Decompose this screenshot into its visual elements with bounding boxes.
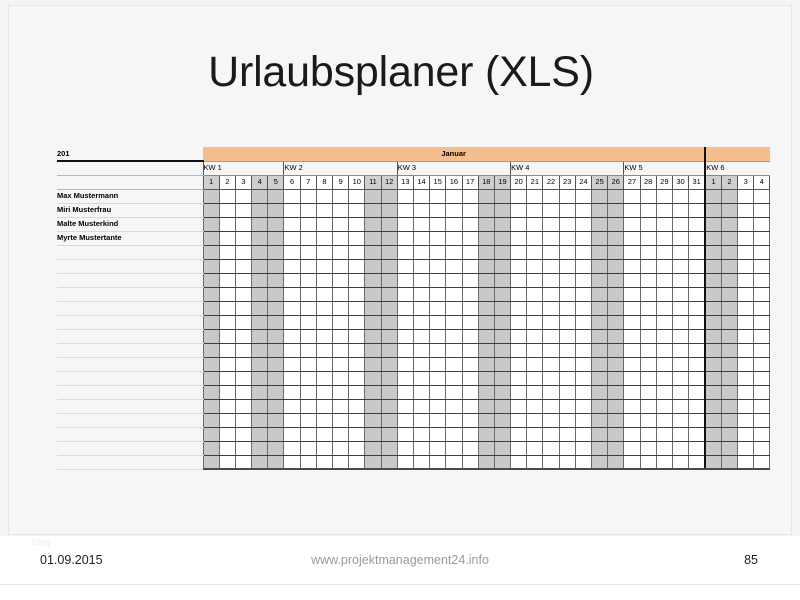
planner-day-cell[interactable] [575, 371, 591, 385]
planner-day-cell[interactable] [203, 245, 219, 259]
planner-day-cell[interactable] [672, 231, 688, 245]
planner-day-cell[interactable] [754, 441, 770, 455]
planner-day-cell[interactable] [656, 371, 672, 385]
planner-day-cell[interactable] [559, 357, 575, 371]
planner-day-cell[interactable] [689, 231, 706, 245]
planner-day-cell[interactable] [349, 273, 365, 287]
planner-day-cell[interactable] [349, 287, 365, 301]
planner-day-cell[interactable] [754, 385, 770, 399]
planner-day-cell[interactable] [381, 287, 397, 301]
planner-day-cell[interactable] [316, 217, 332, 231]
planner-day-cell[interactable] [592, 259, 608, 273]
empty-name-cell[interactable] [57, 455, 203, 469]
planner-day-cell[interactable] [219, 301, 235, 315]
planner-day-cell[interactable] [349, 217, 365, 231]
empty-name-cell[interactable] [57, 371, 203, 385]
planner-day-cell[interactable] [592, 301, 608, 315]
planner-day-cell[interactable] [656, 259, 672, 273]
planner-day-cell[interactable] [300, 259, 316, 273]
day-header-17[interactable]: 17 [462, 175, 478, 189]
planner-day-cell[interactable] [640, 329, 656, 343]
planner-day-cell[interactable] [333, 413, 349, 427]
planner-day-cell[interactable] [721, 385, 737, 399]
planner-day-cell[interactable] [219, 371, 235, 385]
planner-day-cell[interactable] [592, 287, 608, 301]
planner-day-cell[interactable] [640, 245, 656, 259]
empty-name-cell[interactable] [57, 315, 203, 329]
planner-day-cell[interactable] [559, 231, 575, 245]
planner-day-cell[interactable] [754, 203, 770, 217]
planner-day-cell[interactable] [462, 301, 478, 315]
planner-day-cell[interactable] [640, 273, 656, 287]
planner-day-cell[interactable] [381, 245, 397, 259]
planner-day-cell[interactable] [705, 301, 721, 315]
planner-day-cell[interactable] [446, 385, 462, 399]
planner-day-cell[interactable] [738, 399, 754, 413]
planner-day-cell[interactable] [397, 427, 413, 441]
planner-day-cell[interactable] [235, 245, 251, 259]
planner-day-cell[interactable] [413, 371, 429, 385]
planner-day-cell[interactable] [738, 301, 754, 315]
planner-day-cell[interactable] [203, 413, 219, 427]
day-header-30[interactable]: 30 [672, 175, 688, 189]
planner-day-cell[interactable] [689, 189, 706, 203]
planner-day-cell[interactable] [349, 301, 365, 315]
planner-day-cell[interactable] [349, 203, 365, 217]
planner-day-cell[interactable] [252, 385, 268, 399]
planner-day-cell[interactable] [559, 287, 575, 301]
planner-day-cell[interactable] [381, 399, 397, 413]
planner-day-cell[interactable] [705, 287, 721, 301]
planner-day-cell[interactable] [413, 217, 429, 231]
planner-day-cell[interactable] [689, 371, 706, 385]
planner-day-cell[interactable] [446, 329, 462, 343]
person-name-4[interactable]: Myrte Mustertante [57, 231, 203, 245]
planner-day-cell[interactable] [349, 315, 365, 329]
planner-day-cell[interactable] [656, 189, 672, 203]
planner-day-cell[interactable] [511, 343, 527, 357]
planner-day-cell[interactable] [672, 259, 688, 273]
planner-day-cell[interactable] [252, 343, 268, 357]
planner-day-cell[interactable] [511, 301, 527, 315]
planner-day-cell[interactable] [268, 245, 284, 259]
table-row[interactable] [57, 399, 770, 413]
day-header-3[interactable]: 3 [235, 175, 251, 189]
planner-day-cell[interactable] [316, 357, 332, 371]
planner-day-cell[interactable] [640, 343, 656, 357]
planner-day-cell[interactable] [527, 343, 543, 357]
planner-day-cell[interactable] [527, 301, 543, 315]
planner-day-cell[interactable] [462, 441, 478, 455]
planner-day-cell[interactable] [397, 189, 413, 203]
planner-day-cell[interactable] [754, 399, 770, 413]
planner-day-cell[interactable] [478, 259, 494, 273]
day-header-33[interactable]: 2 [721, 175, 737, 189]
planner-day-cell[interactable] [446, 357, 462, 371]
planner-day-cell[interactable] [430, 385, 446, 399]
planner-day-cell[interactable] [430, 315, 446, 329]
planner-day-cell[interactable] [559, 259, 575, 273]
planner-day-cell[interactable] [624, 329, 640, 343]
planner-day-cell[interactable] [478, 455, 494, 469]
planner-day-cell[interactable] [608, 413, 624, 427]
planner-day-cell[interactable] [446, 259, 462, 273]
planner-day-cell[interactable] [413, 399, 429, 413]
planner-day-cell[interactable] [252, 455, 268, 469]
planner-day-cell[interactable] [494, 203, 510, 217]
planner-day-cell[interactable] [738, 371, 754, 385]
planner-day-cell[interactable] [705, 399, 721, 413]
planner-day-cell[interactable] [527, 427, 543, 441]
planner-day-cell[interactable] [656, 357, 672, 371]
planner-day-cell[interactable] [333, 287, 349, 301]
planner-day-cell[interactable] [511, 427, 527, 441]
day-header-18[interactable]: 18 [478, 175, 494, 189]
empty-name-cell[interactable] [57, 287, 203, 301]
planner-day-cell[interactable] [494, 273, 510, 287]
planner-grid[interactable]: 201JanuarKW 1KW 2KW 3KW 4KW 5KW 61234567… [57, 147, 770, 470]
planner-day-cell[interactable] [592, 315, 608, 329]
planner-day-cell[interactable] [219, 315, 235, 329]
planner-day-cell[interactable] [316, 371, 332, 385]
planner-day-cell[interactable] [203, 329, 219, 343]
planner-day-cell[interactable] [511, 371, 527, 385]
planner-day-cell[interactable] [592, 231, 608, 245]
planner-day-cell[interactable] [543, 203, 559, 217]
planner-day-cell[interactable] [624, 217, 640, 231]
planner-day-cell[interactable] [268, 189, 284, 203]
planner-day-cell[interactable] [608, 399, 624, 413]
planner-day-cell[interactable] [640, 371, 656, 385]
planner-day-cell[interactable] [252, 189, 268, 203]
planner-day-cell[interactable] [478, 399, 494, 413]
planner-day-cell[interactable] [397, 217, 413, 231]
planner-day-cell[interactable] [381, 231, 397, 245]
planner-day-cell[interactable] [543, 245, 559, 259]
planner-day-cell[interactable] [592, 427, 608, 441]
planner-day-cell[interactable] [494, 399, 510, 413]
planner-day-cell[interactable] [235, 315, 251, 329]
planner-day-cell[interactable] [268, 301, 284, 315]
planner-day-cell[interactable] [608, 217, 624, 231]
planner-day-cell[interactable] [430, 371, 446, 385]
planner-day-cell[interactable] [672, 287, 688, 301]
planner-day-cell[interactable] [365, 399, 381, 413]
planner-day-cell[interactable] [738, 427, 754, 441]
planner-day-cell[interactable] [608, 427, 624, 441]
planner-day-cell[interactable] [656, 343, 672, 357]
planner-day-cell[interactable] [413, 301, 429, 315]
planner-day-cell[interactable] [640, 385, 656, 399]
planner-day-cell[interactable] [268, 287, 284, 301]
planner-day-cell[interactable] [672, 371, 688, 385]
table-row[interactable] [57, 245, 770, 259]
planner-day-cell[interactable] [235, 301, 251, 315]
planner-day-cell[interactable] [478, 245, 494, 259]
planner-day-cell[interactable] [494, 357, 510, 371]
planner-day-cell[interactable] [527, 287, 543, 301]
planner-day-cell[interactable] [511, 287, 527, 301]
planner-day-cell[interactable] [219, 273, 235, 287]
planner-day-cell[interactable] [349, 231, 365, 245]
planner-day-cell[interactable] [235, 455, 251, 469]
day-header-23[interactable]: 23 [559, 175, 575, 189]
planner-day-cell[interactable] [592, 455, 608, 469]
planner-day-cell[interactable] [624, 441, 640, 455]
planner-day-cell[interactable] [333, 357, 349, 371]
planner-day-cell[interactable] [365, 231, 381, 245]
planner-day-cell[interactable] [559, 329, 575, 343]
planner-day-cell[interactable] [284, 399, 300, 413]
planner-day-cell[interactable] [268, 455, 284, 469]
planner-day-cell[interactable] [575, 315, 591, 329]
planner-day-cell[interactable] [575, 245, 591, 259]
planner-day-cell[interactable] [430, 287, 446, 301]
planner-day-cell[interactable] [284, 441, 300, 455]
planner-day-cell[interactable] [543, 315, 559, 329]
table-row[interactable] [57, 259, 770, 273]
planner-day-cell[interactable] [721, 427, 737, 441]
planner-day-cell[interactable] [672, 315, 688, 329]
planner-day-cell[interactable] [754, 217, 770, 231]
day-header-8[interactable]: 8 [316, 175, 332, 189]
planner-day-cell[interactable] [413, 385, 429, 399]
planner-day-cell[interactable] [592, 385, 608, 399]
day-header-6[interactable]: 6 [284, 175, 300, 189]
day-header-11[interactable]: 11 [365, 175, 381, 189]
planner-day-cell[interactable] [284, 427, 300, 441]
planner-day-cell[interactable] [333, 273, 349, 287]
planner-day-cell[interactable] [494, 259, 510, 273]
planner-day-cell[interactable] [656, 385, 672, 399]
planner-day-cell[interactable] [543, 385, 559, 399]
planner-day-cell[interactable] [754, 329, 770, 343]
planner-day-cell[interactable] [705, 217, 721, 231]
planner-day-cell[interactable] [235, 259, 251, 273]
planner-day-cell[interactable] [511, 455, 527, 469]
planner-day-cell[interactable] [527, 217, 543, 231]
planner-day-cell[interactable] [608, 189, 624, 203]
planner-day-cell[interactable] [203, 259, 219, 273]
planner-day-cell[interactable] [397, 259, 413, 273]
planner-day-cell[interactable] [689, 273, 706, 287]
table-row[interactable] [57, 301, 770, 315]
day-header-7[interactable]: 7 [300, 175, 316, 189]
planner-day-cell[interactable] [446, 427, 462, 441]
day-header-25[interactable]: 25 [592, 175, 608, 189]
planner-day-cell[interactable] [478, 315, 494, 329]
planner-day-cell[interactable] [754, 189, 770, 203]
planner-day-cell[interactable] [381, 343, 397, 357]
planner-day-cell[interactable] [592, 203, 608, 217]
planner-day-cell[interactable] [608, 245, 624, 259]
planner-day-cell[interactable] [689, 301, 706, 315]
planner-day-cell[interactable] [219, 427, 235, 441]
planner-day-cell[interactable] [705, 455, 721, 469]
planner-day-cell[interactable] [721, 357, 737, 371]
planner-day-cell[interactable] [478, 343, 494, 357]
planner-day-cell[interactable] [592, 357, 608, 371]
planner-day-cell[interactable] [721, 455, 737, 469]
planner-day-cell[interactable] [511, 357, 527, 371]
planner-day-cell[interactable] [316, 203, 332, 217]
planner-day-cell[interactable] [284, 231, 300, 245]
planner-day-cell[interactable] [624, 343, 640, 357]
planner-day-cell[interactable] [721, 301, 737, 315]
planner-day-cell[interactable] [430, 455, 446, 469]
planner-day-cell[interactable] [640, 455, 656, 469]
planner-day-cell[interactable] [527, 357, 543, 371]
planner-day-cell[interactable] [494, 301, 510, 315]
planner-day-cell[interactable] [413, 203, 429, 217]
planner-day-cell[interactable] [738, 273, 754, 287]
planner-day-cell[interactable] [381, 371, 397, 385]
planner-day-cell[interactable] [478, 287, 494, 301]
planner-day-cell[interactable] [446, 455, 462, 469]
planner-day-cell[interactable] [446, 371, 462, 385]
planner-day-cell[interactable] [235, 357, 251, 371]
planner-day-cell[interactable] [559, 441, 575, 455]
planner-day-cell[interactable] [494, 441, 510, 455]
planner-day-cell[interactable] [511, 441, 527, 455]
planner-day-cell[interactable] [511, 399, 527, 413]
planner-day-cell[interactable] [721, 413, 737, 427]
planner-day-cell[interactable] [575, 357, 591, 371]
planner-day-cell[interactable] [413, 427, 429, 441]
planner-day-cell[interactable] [381, 189, 397, 203]
planner-day-cell[interactable] [738, 385, 754, 399]
planner-day-cell[interactable] [235, 441, 251, 455]
planner-day-cell[interactable] [316, 329, 332, 343]
planner-day-cell[interactable] [268, 427, 284, 441]
planner-day-cell[interactable] [252, 203, 268, 217]
planner-day-cell[interactable] [608, 231, 624, 245]
planner-day-cell[interactable] [721, 315, 737, 329]
table-row[interactable] [57, 273, 770, 287]
planner-day-cell[interactable] [316, 301, 332, 315]
planner-day-cell[interactable] [511, 273, 527, 287]
planner-day-cell[interactable] [203, 287, 219, 301]
planner-day-cell[interactable] [689, 399, 706, 413]
planner-day-cell[interactable] [235, 413, 251, 427]
planner-day-cell[interactable] [689, 287, 706, 301]
planner-day-cell[interactable] [754, 427, 770, 441]
planner-day-cell[interactable] [252, 245, 268, 259]
planner-day-cell[interactable] [705, 273, 721, 287]
planner-day-cell[interactable] [333, 189, 349, 203]
planner-day-cell[interactable] [300, 287, 316, 301]
planner-day-cell[interactable] [349, 385, 365, 399]
planner-day-cell[interactable] [397, 245, 413, 259]
planner-day-cell[interactable] [527, 455, 543, 469]
planner-day-cell[interactable] [608, 385, 624, 399]
planner-day-cell[interactable] [430, 217, 446, 231]
planner-day-cell[interactable] [235, 203, 251, 217]
planner-day-cell[interactable] [721, 441, 737, 455]
planner-day-cell[interactable] [462, 385, 478, 399]
planner-day-cell[interactable] [316, 413, 332, 427]
planner-day-cell[interactable] [511, 189, 527, 203]
planner-day-cell[interactable] [300, 203, 316, 217]
planner-day-cell[interactable] [640, 301, 656, 315]
empty-name-cell[interactable] [57, 273, 203, 287]
planner-day-cell[interactable] [478, 357, 494, 371]
planner-day-cell[interactable] [349, 245, 365, 259]
day-header-31[interactable]: 31 [689, 175, 706, 189]
planner-day-cell[interactable] [235, 343, 251, 357]
planner-day-cell[interactable] [575, 441, 591, 455]
planner-day-cell[interactable] [592, 273, 608, 287]
planner-day-cell[interactable] [656, 315, 672, 329]
planner-day-cell[interactable] [252, 427, 268, 441]
planner-day-cell[interactable] [689, 203, 706, 217]
planner-day-cell[interactable] [462, 399, 478, 413]
planner-day-cell[interactable] [316, 385, 332, 399]
planner-day-cell[interactable] [478, 385, 494, 399]
day-header-20[interactable]: 20 [511, 175, 527, 189]
planner-day-cell[interactable] [527, 315, 543, 329]
planner-day-cell[interactable] [672, 203, 688, 217]
planner-day-cell[interactable] [656, 441, 672, 455]
table-row[interactable] [57, 357, 770, 371]
planner-day-cell[interactable] [446, 245, 462, 259]
planner-day-cell[interactable] [478, 329, 494, 343]
planner-day-cell[interactable] [608, 259, 624, 273]
planner-day-cell[interactable] [754, 259, 770, 273]
planner-day-cell[interactable] [462, 231, 478, 245]
planner-day-cell[interactable] [559, 427, 575, 441]
planner-day-cell[interactable] [575, 455, 591, 469]
planner-day-cell[interactable] [511, 245, 527, 259]
day-header-22[interactable]: 22 [543, 175, 559, 189]
planner-day-cell[interactable] [333, 329, 349, 343]
table-row[interactable]: Max Mustermann [57, 189, 770, 203]
planner-day-cell[interactable] [527, 231, 543, 245]
planner-day-cell[interactable] [738, 329, 754, 343]
planner-day-cell[interactable] [203, 189, 219, 203]
planner-day-cell[interactable] [640, 315, 656, 329]
planner-day-cell[interactable] [624, 245, 640, 259]
planner-day-cell[interactable] [316, 427, 332, 441]
planner-day-cell[interactable] [689, 315, 706, 329]
planner-day-cell[interactable] [705, 203, 721, 217]
planner-day-cell[interactable] [624, 231, 640, 245]
planner-day-cell[interactable] [478, 441, 494, 455]
table-row[interactable] [57, 287, 770, 301]
planner-day-cell[interactable] [527, 329, 543, 343]
planner-day-cell[interactable] [705, 329, 721, 343]
planner-day-cell[interactable] [235, 385, 251, 399]
day-header-35[interactable]: 4 [754, 175, 770, 189]
planner-day-cell[interactable] [284, 259, 300, 273]
planner-day-cell[interactable] [349, 371, 365, 385]
planner-day-cell[interactable] [689, 343, 706, 357]
planner-day-cell[interactable] [543, 441, 559, 455]
planner-day-cell[interactable] [721, 203, 737, 217]
planner-day-cell[interactable] [738, 315, 754, 329]
planner-day-cell[interactable] [721, 329, 737, 343]
planner-day-cell[interactable] [656, 301, 672, 315]
planner-day-cell[interactable] [219, 343, 235, 357]
planner-day-cell[interactable] [316, 245, 332, 259]
planner-day-cell[interactable] [365, 203, 381, 217]
planner-day-cell[interactable] [624, 189, 640, 203]
planner-day-cell[interactable] [656, 273, 672, 287]
planner-day-cell[interactable] [608, 357, 624, 371]
planner-day-cell[interactable] [754, 273, 770, 287]
table-row[interactable]: Myrte Mustertante [57, 231, 770, 245]
planner-day-cell[interactable] [721, 245, 737, 259]
